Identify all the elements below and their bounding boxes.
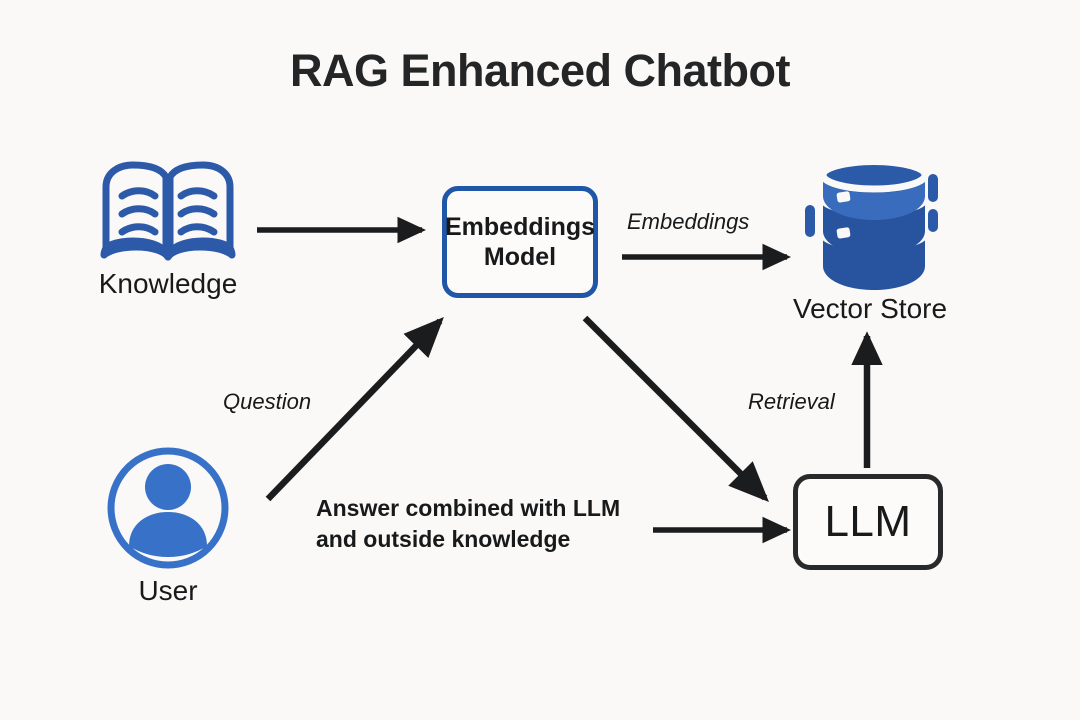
database-icon[interactable] — [805, 161, 938, 290]
node-label-vector-store: Vector Store — [755, 293, 985, 325]
edge-label-answer-line2: and outside knowledge — [316, 524, 620, 555]
embeddings-model-node[interactable]: Embeddings Model — [442, 186, 598, 298]
diagram-canvas: RAG Enhanced Chatbot — [0, 0, 1080, 720]
node-label-knowledge: Knowledge — [48, 268, 288, 300]
embeddings-model-line2: Model — [445, 242, 595, 273]
embeddings-model-text: Embeddings Model — [445, 212, 595, 273]
node-label-user: User — [78, 575, 258, 607]
llm-label: LLM — [824, 497, 911, 547]
edge-label-answer: Answer combined with LLM and outside kno… — [316, 493, 620, 555]
edge-label-embeddings: Embeddings — [627, 209, 749, 235]
edge-label-answer-line1: Answer combined with LLM — [316, 493, 620, 524]
embeddings-model-line1: Embeddings — [445, 212, 595, 243]
llm-node[interactable]: LLM — [793, 474, 943, 570]
open-book-icon[interactable] — [104, 165, 232, 257]
edge-label-question: Question — [223, 389, 311, 415]
edge-label-retrieval: Retrieval — [748, 389, 835, 415]
user-avatar-icon[interactable] — [111, 451, 225, 565]
icon-layer — [0, 0, 1080, 720]
